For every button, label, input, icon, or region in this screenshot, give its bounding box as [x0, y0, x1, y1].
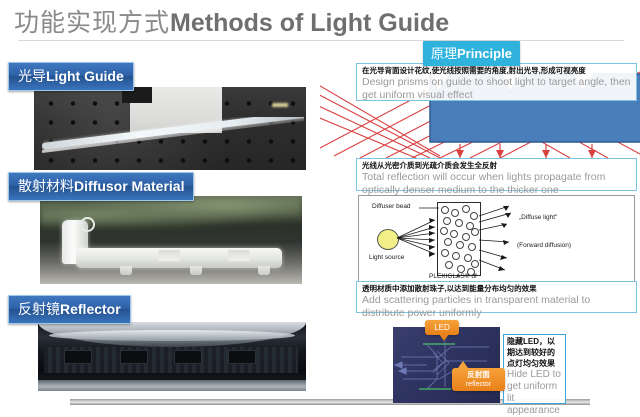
diffusor-tab [228, 250, 250, 261]
callout-reflector-en: reflector [452, 380, 505, 391]
total-reflection-en: Total reflection will occur when lights … [362, 171, 632, 196]
diffusor-hook [80, 217, 95, 232]
hide-led-en: Hide LED to get uniform lit appearance [507, 369, 562, 417]
total-reflection-cn: 光线从光密介质到光疏介质会发生全反射 [362, 161, 632, 171]
section-label-principle-en: Principle [457, 46, 512, 61]
page-title-cn: 功能实现方式 [14, 9, 170, 37]
light-source-label: Light source [369, 254, 404, 261]
title-divider [18, 40, 624, 41]
diffusor-foot [190, 266, 202, 275]
total-reflection-description-box: 光线从光密介质到光疏介质会发生全反射 Total reflection will… [356, 158, 637, 191]
photo-diffusor-part [40, 196, 302, 284]
section-label-principle-cn: 原理 [431, 46, 457, 61]
section-label-light-guide-cn: 光导 [18, 68, 46, 84]
hide-led-description-box: 隐藏LED，以期达到较好的点灯均匀效果 Hide LED to get unif… [503, 334, 566, 404]
section-label-reflector: 反射镜Reflector [8, 295, 131, 324]
section-label-reflector-en: Reflector [60, 301, 121, 317]
scattering-description-en: Add scattering particles in transparent … [362, 294, 632, 319]
diffusor-foot [120, 266, 132, 275]
diffuse-light-label: „Diffuse light" [519, 214, 557, 221]
reflector-bottom-edge [38, 380, 306, 391]
led-module [228, 350, 256, 364]
scattering-description-box: 透明材质中添加散射珠子,以达到能量分布均匀的效果 Add scattering … [356, 281, 637, 313]
section-label-principle: 原理Principle [423, 41, 520, 66]
led-module [174, 350, 202, 364]
section-label-diffusor: 散射材料Diffusor Material [8, 172, 194, 201]
forward-diffusion-label: (Forward diffusion) [517, 242, 571, 249]
section-label-diffusor-cn: 散射材料 [18, 178, 74, 194]
led-module [120, 350, 148, 364]
principle-description-cn: 在光导背面设计花纹,使光线按照需要的角度,射出光导,形成可视亮度 [362, 66, 632, 76]
hide-led-cn: 隐藏LED，以期达到较好的点灯均匀效果 [507, 337, 562, 369]
callout-led-label: LED [434, 323, 450, 332]
led-module [64, 350, 92, 364]
section-label-light-guide: 光导Light Guide [8, 62, 134, 91]
diffuser-bead-label: Diffuser bead [372, 203, 411, 210]
photo-light-guide-rod [34, 87, 306, 170]
diagram-diffuser-bead: Diffuser bead Light source PLEXIGLAS® df… [358, 195, 635, 282]
principle-description-box: 在光导背面设计花纹,使光线按照需要的角度,射出光导,形成可视亮度 Design … [356, 63, 637, 101]
light-spot [272, 103, 288, 107]
callout-reflector: 反射面 reflector [452, 368, 505, 391]
callout-reflector-cn: 反射面 [452, 369, 505, 380]
page-title-en: Methods of Light Guide [170, 9, 449, 37]
white-diffusor-part [62, 220, 282, 274]
page-title: 功能实现方式Methods of Light Guide [14, 3, 449, 39]
diffusor-foot [258, 266, 270, 275]
diffusor-tab [158, 250, 180, 261]
section-label-reflector-cn: 反射镜 [18, 301, 60, 317]
principle-description-en: Design prisms on guide to shoot light to… [362, 76, 632, 101]
section-label-diffusor-en: Diffusor Material [74, 178, 184, 194]
photo-chrome-reflector [38, 322, 306, 391]
section-label-light-guide-en: Light Guide [46, 68, 124, 84]
clear-light-guide-rod [42, 117, 304, 157]
scattering-description-cn: 透明材质中添加散射珠子,以达到能量分布均匀的效果 [362, 284, 632, 294]
callout-led: LED [425, 320, 459, 335]
plexiglas-label: PLEXIGLAS® df [429, 273, 477, 280]
output-rays [460, 144, 592, 158]
